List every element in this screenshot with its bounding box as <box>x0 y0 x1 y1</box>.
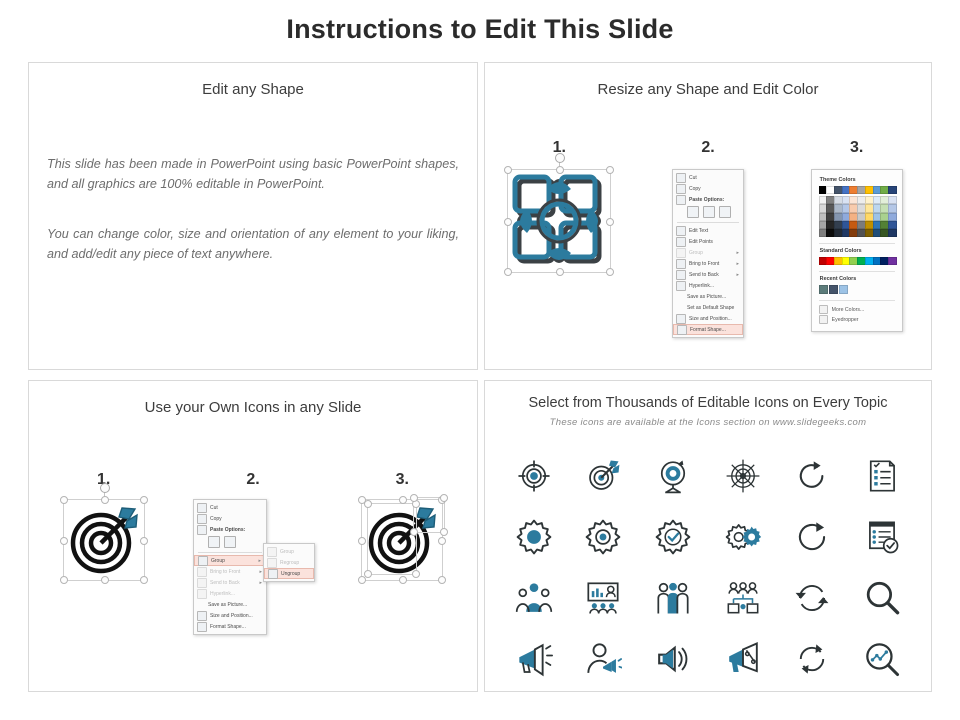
own-icons-step-numbers: 1. 2. 3. <box>29 471 477 489</box>
scissors-icon <box>197 503 207 513</box>
person-megaphone-icon[interactable] <box>581 637 625 681</box>
rotate-clockwise-icon[interactable] <box>790 454 834 498</box>
recent-color-swatch[interactable] <box>819 285 828 293</box>
size-position-icon <box>197 611 207 621</box>
theme-tint-swatch[interactable] <box>888 196 897 204</box>
edit-shape-paragraph-1: This slide has been made in PowerPoint u… <box>47 155 459 194</box>
own-figure-3 <box>328 499 477 581</box>
theme-tint-row <box>819 213 895 221</box>
menu-item-label: Set as Default Shape <box>687 305 739 311</box>
menu-item-label: Save as Picture... <box>687 294 739 300</box>
menu-item-hyperlink: Hyperlink... <box>194 588 266 599</box>
menu-item-ungroup[interactable]: Ungroup <box>264 568 314 579</box>
chevron-right-icon: ▸ <box>736 261 739 267</box>
sub-handle-dart-ne[interactable] <box>440 494 448 502</box>
step-number-2: 2. <box>634 139 783 157</box>
group-icon <box>676 248 686 258</box>
resize-figures-row: CutCopyPaste Options:Edit TextEdit Point… <box>485 169 931 338</box>
divider <box>198 552 262 553</box>
scissors-icon <box>676 173 686 183</box>
menu-item-label: Hyperlink... <box>210 591 262 597</box>
edit-shape-paragraph-2: You can change color, size and orientati… <box>47 225 459 264</box>
selection-box <box>507 169 611 273</box>
resize-handle-sw[interactable] <box>60 576 68 584</box>
theme-colors-label: Theme Colors <box>820 177 895 183</box>
crosshair-target-icon[interactable] <box>512 454 556 498</box>
resize-handle-sw[interactable] <box>504 268 512 276</box>
eyedropper-option[interactable]: Eyedropper <box>819 315 895 325</box>
paste-icon <box>676 195 686 205</box>
menu-item-label: Format Shape... <box>210 624 262 630</box>
panel-icon-library-subtitle: These icons are available at the Icons s… <box>485 417 931 428</box>
eyedropper-label: Eyedropper <box>832 317 859 323</box>
selected-four-square-shape[interactable] <box>507 169 611 273</box>
theme-tint-swatch[interactable] <box>888 221 897 229</box>
rotation-handle[interactable] <box>100 483 110 493</box>
menu-item-label: Group <box>689 250 733 256</box>
checklist-document-icon[interactable] <box>860 454 904 498</box>
icon-context-menu[interactable]: CutCopyPaste Options:Group▸Bring to Fron… <box>193 499 267 635</box>
presentation-meeting-icon[interactable] <box>581 576 625 620</box>
discount-megaphone-icon[interactable] <box>721 637 765 681</box>
theme-tint-swatch[interactable] <box>888 213 897 221</box>
menu-item-format-shape[interactable]: Format Shape... <box>673 324 743 335</box>
resize-handle-s[interactable] <box>101 576 109 584</box>
menu-item-edit-points[interactable]: Edit Points <box>673 236 743 247</box>
chevron-right-icon: ▸ <box>258 558 261 564</box>
hyperlink-icon <box>676 281 686 291</box>
menu-item-save-as-picture[interactable]: Save as Picture... <box>673 291 743 302</box>
more-colors-label: More Colors... <box>832 307 865 313</box>
menu-item-size-and-position[interactable]: Size and Position... <box>673 313 743 324</box>
menu-item-group: Group▸ <box>673 247 743 258</box>
resize-figure-3: Theme Colors Standard Colors Recent Colo… <box>782 169 931 332</box>
panel-resize-shape: Resize any Shape and Edit Color 1. 2. 3. <box>484 62 932 370</box>
resize-handle-s[interactable] <box>556 268 564 276</box>
menu-item-hyperlink[interactable]: Hyperlink... <box>673 280 743 291</box>
icon-library-grid <box>499 445 917 689</box>
sub-handle-dart-se[interactable] <box>440 528 448 536</box>
regroup-icon <box>267 558 277 568</box>
menu-item-label: Bring to Front <box>689 261 733 267</box>
format-shape-icon <box>197 622 207 632</box>
page-title: Instructions to Edit This Slide <box>0 14 960 45</box>
paste-icon <box>197 525 207 535</box>
menu-item-label: Paste Options: <box>689 197 739 203</box>
theme-color-swatches[interactable] <box>819 186 895 237</box>
recent-color-swatches[interactable] <box>819 285 895 293</box>
group-icon <box>198 556 208 566</box>
magnifier-chart-icon[interactable] <box>860 637 904 681</box>
crosshair-scope-icon[interactable] <box>721 454 765 498</box>
refresh-circle-icon[interactable] <box>790 515 834 559</box>
menu-item-label: Send to Back <box>689 272 733 278</box>
target-dart-icon[interactable] <box>581 454 625 498</box>
menu-item-label: Group <box>211 558 255 564</box>
send-back-icon <box>197 578 207 588</box>
theme-tint-row <box>819 221 895 229</box>
menu-item-label: Format Shape... <box>690 327 738 333</box>
copy-icon <box>676 184 686 194</box>
menu-item-copy[interactable]: Copy <box>673 183 743 194</box>
chevron-right-icon: ▸ <box>259 580 262 586</box>
chevron-right-icon: ▸ <box>736 272 739 278</box>
panel-icon-library-title: Select from Thousands of Editable Icons … <box>485 395 931 411</box>
resize-handle-s[interactable] <box>399 576 407 584</box>
eyedropper-icon <box>819 315 828 324</box>
theme-tint-row <box>819 229 895 237</box>
menu-item-copy[interactable]: Copy <box>194 513 266 524</box>
theme-color-swatch[interactable] <box>888 186 897 194</box>
theme-tint-row <box>819 196 895 204</box>
ungrouped-target-dart-icon[interactable] <box>361 499 443 581</box>
gear-outline-icon[interactable] <box>581 515 625 559</box>
menu-item-save-as-picture[interactable]: Save as Picture... <box>194 599 266 610</box>
copy-icon <box>197 514 207 524</box>
step-number-2: 2. <box>178 471 327 489</box>
theme-color-row <box>819 186 895 194</box>
menu-item-bring-to-front[interactable]: Bring to Front▸ <box>673 258 743 269</box>
megaphone-icon[interactable] <box>512 637 556 681</box>
menu-item-size-and-position[interactable]: Size and Position... <box>194 610 266 621</box>
own-figure-2: CutCopyPaste Options:Group▸Bring to Fron… <box>178 499 327 619</box>
edit-text-icon <box>676 226 686 236</box>
menu-item-label: Size and Position... <box>689 316 739 322</box>
menu-item-label: Size and Position... <box>210 613 262 619</box>
bring-front-icon <box>197 567 207 577</box>
paste-options-row[interactable] <box>673 205 743 220</box>
menu-item-label: Regroup <box>280 560 310 566</box>
menu-item-paste-options[interactable]: Paste Options: <box>194 524 266 535</box>
hyperlink-icon <box>197 589 207 599</box>
paste-picture-icon[interactable] <box>224 536 236 548</box>
menu-item-label: Hyperlink... <box>689 283 739 289</box>
menu-item-label: Send to Back <box>210 580 256 586</box>
color-picker-panel[interactable]: Theme Colors Standard Colors Recent Colo… <box>811 169 903 332</box>
size-position-icon <box>676 314 686 324</box>
resize-handle-nw[interactable] <box>60 496 68 504</box>
group-icon <box>267 547 277 557</box>
theme-tint-swatch[interactable] <box>888 229 897 237</box>
shape-context-menu[interactable]: CutCopyPaste Options:Edit TextEdit Point… <box>672 169 744 338</box>
resize-handle-e[interactable] <box>140 537 148 545</box>
menu-item-send-to-back[interactable]: Send to Back▸ <box>673 269 743 280</box>
menu-item-regroup: Regroup <box>264 557 314 568</box>
standard-color-swatch[interactable] <box>888 257 897 265</box>
document-approved-icon[interactable] <box>860 515 904 559</box>
gear-solid-icon[interactable] <box>512 515 556 559</box>
paste-keep-source-icon[interactable] <box>687 206 699 218</box>
panel-own-icons-title: Use your Own Icons in any Slide <box>29 399 477 416</box>
resize-handle-n[interactable] <box>101 496 109 504</box>
standard-color-swatches[interactable] <box>819 257 895 265</box>
refresh-cycle-icon[interactable] <box>790 637 834 681</box>
speaker-icon[interactable] <box>651 637 695 681</box>
resize-figure-1 <box>485 169 634 273</box>
people-group-icon[interactable] <box>512 576 556 620</box>
resize-handle-ne[interactable] <box>140 496 148 504</box>
menu-item-label: Edit Text <box>689 228 739 234</box>
selection-box-target <box>367 503 417 575</box>
menu-item-label: Edit Points <box>689 239 739 245</box>
selection-box <box>63 499 145 581</box>
recent-color-swatch[interactable] <box>829 285 838 293</box>
panel-edit-shape: Edit any Shape This slide has been made … <box>28 62 478 370</box>
menu-item-label: Copy <box>210 516 262 522</box>
menu-item-cut[interactable]: Cut <box>194 502 266 513</box>
chevron-right-icon: ▸ <box>736 250 739 256</box>
recent-colors-label: Recent Colors <box>820 276 895 282</box>
menu-item-label: Paste Options: <box>210 527 262 533</box>
menu-item-edit-text[interactable]: Edit Text <box>673 225 743 236</box>
menu-item-label: Cut <box>689 175 739 181</box>
ungroup-icon <box>268 569 278 579</box>
panel-edit-shape-title: Edit any Shape <box>29 81 477 98</box>
menu-item-group: Group <box>264 546 314 557</box>
magnifier-icon[interactable] <box>860 576 904 620</box>
org-chart-icon[interactable] <box>721 576 765 620</box>
format-shape-icon <box>677 325 687 335</box>
slide-canvas: Instructions to Edit This Slide Edit any… <box>0 0 960 720</box>
more-colors-option[interactable]: More Colors... <box>819 305 895 315</box>
recent-color-swatch[interactable] <box>839 285 848 293</box>
menu-item-cut[interactable]: Cut <box>673 172 743 183</box>
resize-step-numbers: 1. 2. 3. <box>485 139 931 157</box>
selected-target-dart-icon[interactable] <box>63 499 145 581</box>
paste-picture-icon[interactable] <box>719 206 731 218</box>
theme-tint-row <box>819 204 895 212</box>
menu-item-label: Copy <box>689 186 739 192</box>
menu-item-paste-options[interactable]: Paste Options: <box>673 194 743 205</box>
divider <box>819 271 895 272</box>
sync-arrows-icon[interactable] <box>790 576 834 620</box>
menu-item-group[interactable]: Group▸ <box>194 555 266 566</box>
target-stand-icon[interactable] <box>651 454 695 498</box>
menu-item-label: Group <box>280 549 310 555</box>
double-gear-icon[interactable] <box>721 515 765 559</box>
resize-handle-ne[interactable] <box>606 166 614 174</box>
resize-handle-w[interactable] <box>60 537 68 545</box>
group-submenu[interactable]: GroupRegroupUngroup <box>263 543 315 582</box>
divider <box>819 300 895 301</box>
team-three-icon[interactable] <box>651 576 695 620</box>
menu-item-set-as-default-shape[interactable]: Set as Default Shape <box>673 302 743 313</box>
rotation-handle[interactable] <box>555 153 565 163</box>
paste-merge-icon[interactable] <box>703 206 715 218</box>
paste-keep-source-icon[interactable] <box>208 536 220 548</box>
chevron-right-icon: ▸ <box>259 569 262 575</box>
resize-handle-e[interactable] <box>606 218 614 226</box>
panel-own-icons: Use your Own Icons in any Slide 1. 2. 3. <box>28 380 478 692</box>
menu-item-label: Cut <box>210 505 262 511</box>
own-figure-1 <box>29 499 178 581</box>
theme-tint-swatch[interactable] <box>888 204 897 212</box>
resize-handle-se[interactable] <box>606 268 614 276</box>
standard-colors-label: Standard Colors <box>820 248 895 254</box>
resize-figure-2: CutCopyPaste Options:Edit TextEdit Point… <box>634 169 783 338</box>
step-number-3: 3. <box>328 471 477 489</box>
menu-item-label: Save as Picture... <box>208 602 262 608</box>
paste-options-row[interactable] <box>194 535 266 550</box>
resize-handle-se[interactable] <box>140 576 148 584</box>
divider <box>677 222 739 223</box>
menu-item-send-to-back: Send to Back▸ <box>194 577 266 588</box>
resize-handle-e[interactable] <box>438 537 446 545</box>
bring-front-icon <box>676 259 686 269</box>
menu-item-label: Bring to Front <box>210 569 256 575</box>
step-number-3: 3. <box>782 139 931 157</box>
palette-icon <box>819 305 828 314</box>
panel-icon-library: Select from Thousands of Editable Icons … <box>484 380 932 692</box>
resize-handle-se[interactable] <box>438 576 446 584</box>
own-icons-figures-row: CutCopyPaste Options:Group▸Bring to Fron… <box>29 499 477 619</box>
gear-check-icon[interactable] <box>651 515 695 559</box>
send-back-icon <box>676 270 686 280</box>
menu-item-label: Ungroup <box>281 571 309 577</box>
menu-item-format-shape[interactable]: Format Shape... <box>194 621 266 632</box>
menu-item-bring-to-front: Bring to Front▸ <box>194 566 266 577</box>
edit-points-icon <box>676 237 686 247</box>
panel-resize-shape-title: Resize any Shape and Edit Color <box>485 81 931 98</box>
divider <box>819 243 895 244</box>
